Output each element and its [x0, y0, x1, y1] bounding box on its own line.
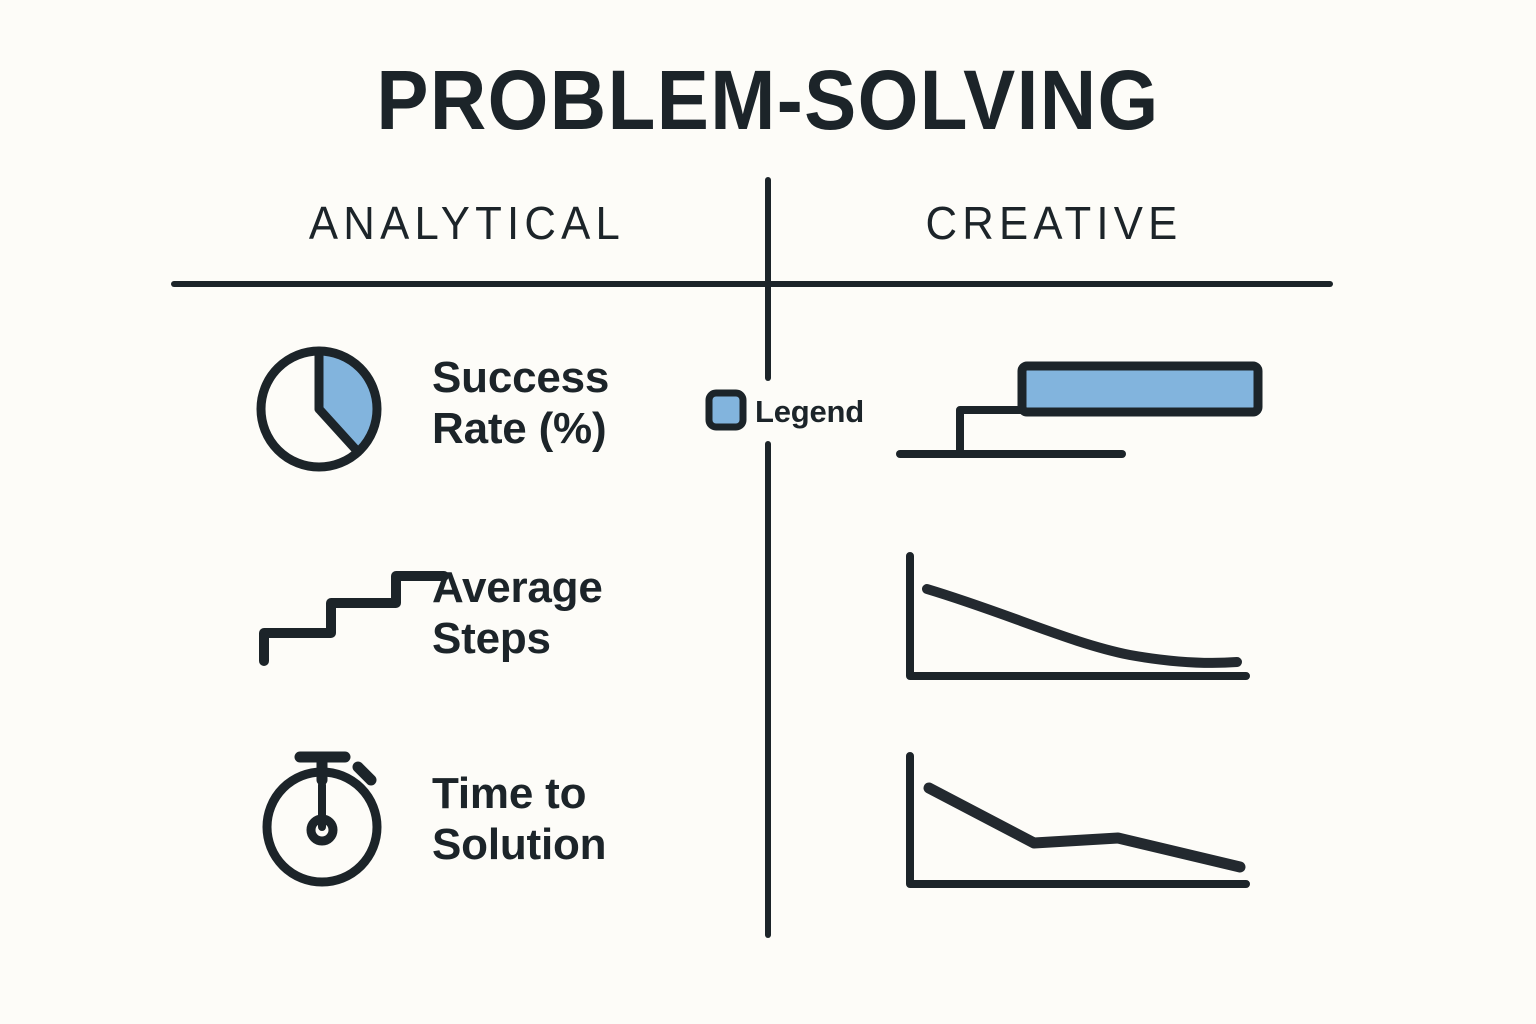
sketch-layer — [0, 0, 1536, 1024]
data-line — [929, 788, 1240, 867]
pie-chart-icon — [261, 351, 378, 467]
data-line — [927, 589, 1237, 663]
metric-label-line: Steps — [432, 613, 722, 664]
horizontal-bar-chart — [900, 366, 1258, 454]
decay-line-chart — [910, 556, 1246, 676]
metric-label-time-to-solution: Time to Solution — [432, 768, 722, 870]
bar-analytical — [960, 410, 1124, 454]
bar-creative — [1022, 366, 1258, 412]
metric-label-line: Time to — [432, 768, 722, 819]
column-header-analytical: ANALYTICAL — [277, 200, 657, 246]
declining-line-chart — [910, 756, 1246, 884]
metric-label-line: Success — [432, 352, 722, 403]
metric-label-average-steps: Average Steps — [432, 562, 722, 664]
page-title: PROBLEM-SOLVING — [54, 58, 1482, 142]
column-header-creative: CREATIVE — [864, 200, 1244, 246]
metric-label-line: Rate (%) — [432, 403, 722, 454]
metric-label-line: Average — [432, 562, 722, 613]
chart-axes — [910, 756, 1246, 884]
metric-label-success-rate: Success Rate (%) — [432, 352, 722, 454]
infographic-canvas: PROBLEM-SOLVING ANALYTICAL CREATIVE Succ… — [0, 0, 1536, 1024]
legend-label: Legend — [755, 396, 864, 427]
stairs-icon — [264, 576, 444, 661]
metric-label-line: Solution — [432, 819, 722, 870]
stopwatch-icon — [267, 757, 377, 882]
